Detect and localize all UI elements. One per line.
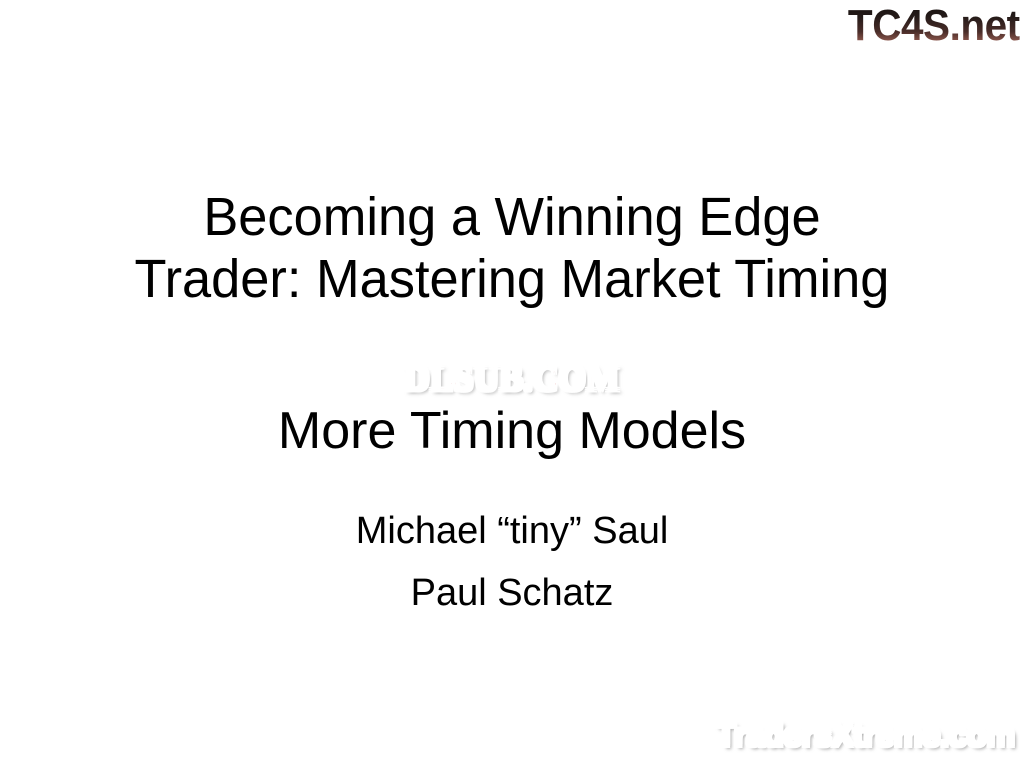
tc4s-logo[interactable]: TC4S.net — [848, 2, 1020, 50]
author-name-1: Michael “tiny” Saul — [0, 500, 1024, 562]
authors-list: Michael “tiny” Saul Paul Schatz — [0, 500, 1024, 624]
page-subtitle: More Timing Models — [0, 402, 1024, 460]
presentation-slide: TC4S.net Becoming a Winning Edge Trader:… — [0, 0, 1024, 768]
page-title: Becoming a Winning Edge Trader: Masterin… — [0, 186, 1024, 310]
tradersxtreme-logo[interactable]: TradersXtreme.com — [716, 716, 1015, 754]
subtitle-line-1: More Timing Models — [0, 402, 1024, 460]
dlsub-watermark-text: DLSUB.COM — [404, 359, 620, 399]
title-line-1: Becoming a Winning Edge — [15, 186, 1008, 248]
title-line-2: Trader: Mastering Market Timing — [15, 248, 1008, 310]
dlsub-watermark: DLSUB.COM — [0, 360, 1024, 398]
author-name-2: Paul Schatz — [0, 562, 1024, 624]
